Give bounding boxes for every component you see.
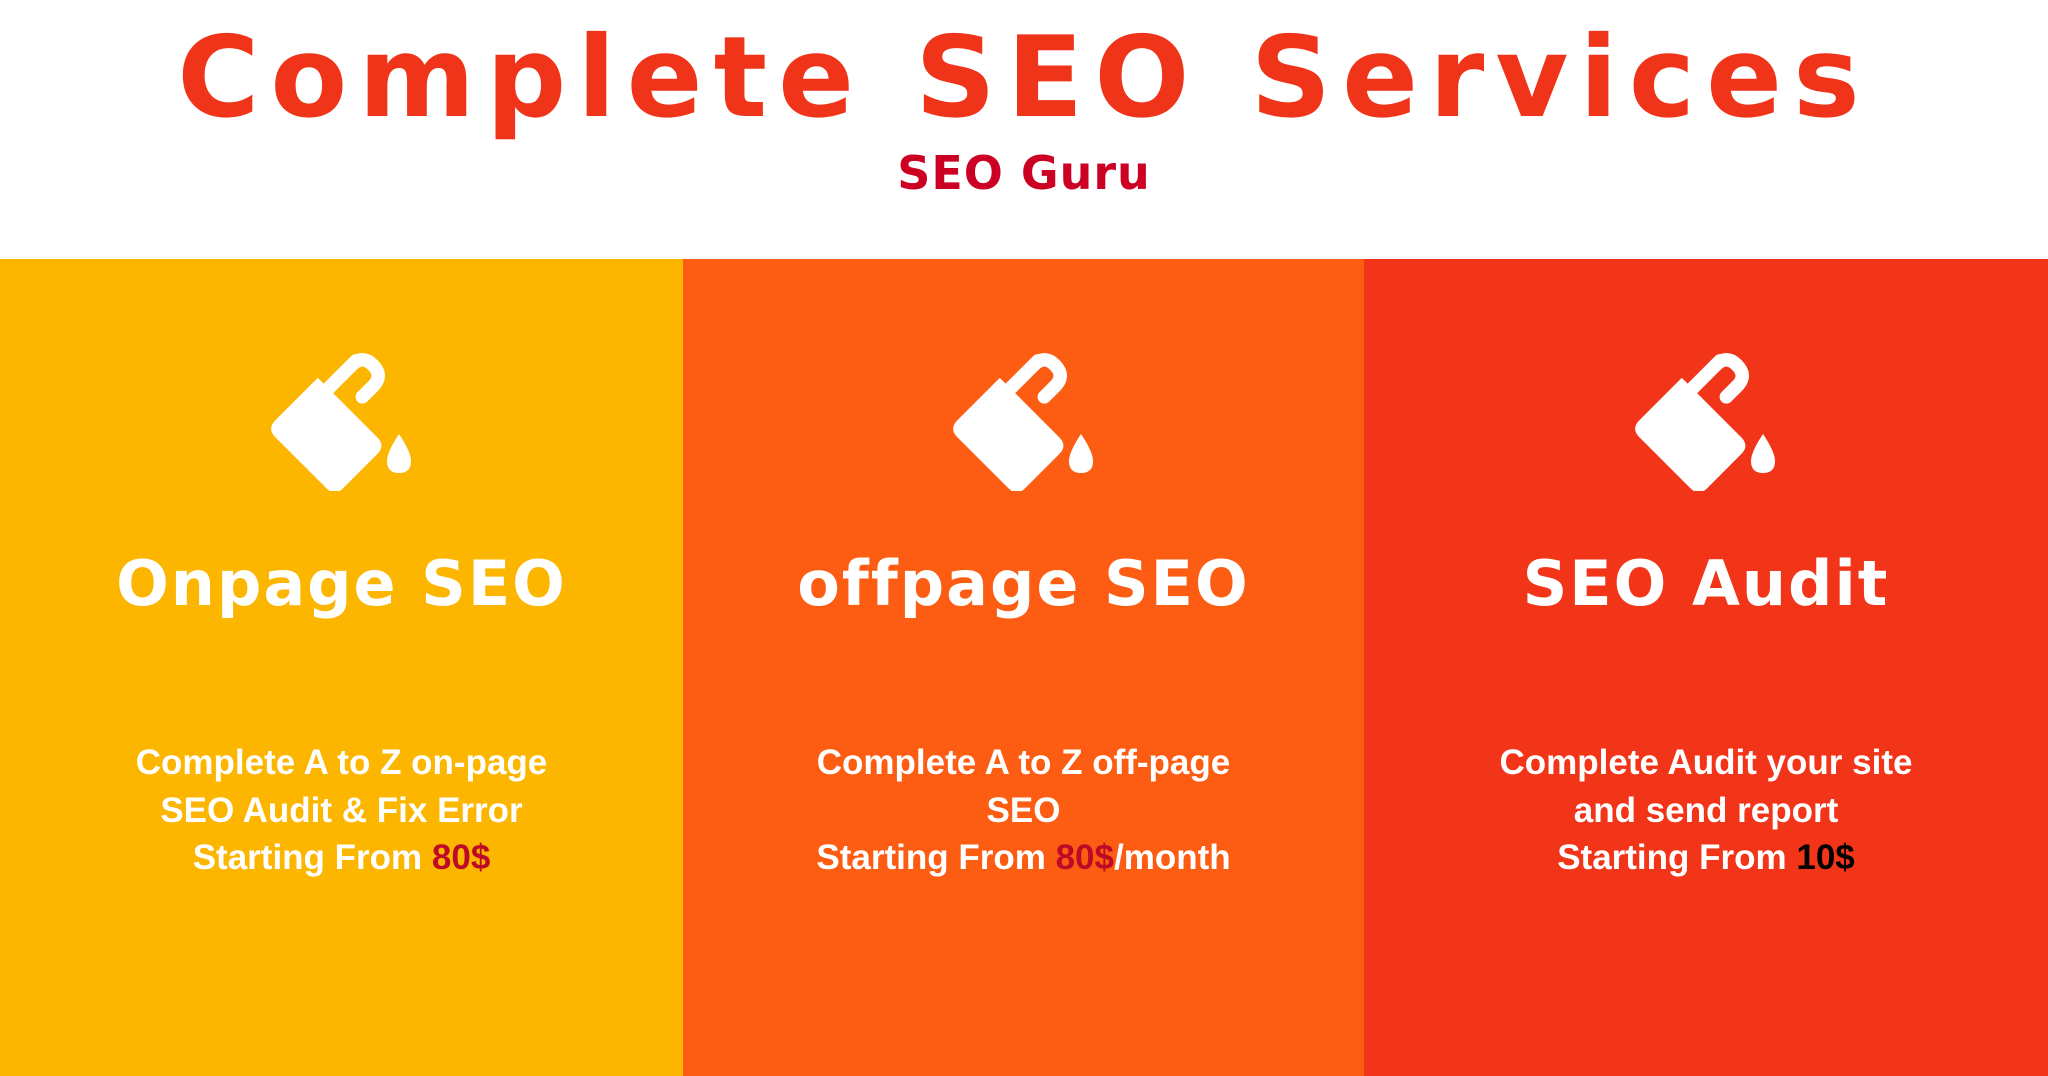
card-body-line: SEO (816, 787, 1230, 835)
card-title: SEO Audit (1523, 553, 1890, 615)
price-amount: 80$ (432, 838, 490, 877)
card-price-line: Starting From 10$ (1500, 834, 1913, 882)
card-body-line: SEO Audit & Fix Error (136, 787, 548, 835)
poster-header: Complete SEO Services SEO Guru (0, 0, 2048, 259)
card-title: Onpage SEO (116, 553, 567, 615)
seo-services-poster: Complete SEO Services SEO Guru Onpage SE… (0, 0, 2048, 1076)
card-body: Complete A to Z off-page SEO Starting Fr… (776, 739, 1270, 882)
page-subtitle: SEO Guru (897, 134, 1151, 196)
card-body-line: Complete A to Z on-page (136, 739, 548, 787)
price-prefix: Starting From (816, 838, 1055, 877)
service-card-offpage-seo[interactable]: offpage SEO Complete A to Z off-page SEO… (683, 259, 1364, 1076)
price-suffix: /month (1114, 838, 1231, 877)
service-card-onpage-seo[interactable]: Onpage SEO Complete A to Z on-page SEO A… (0, 259, 683, 1076)
price-prefix: Starting From (1557, 838, 1796, 877)
price-amount: 10$ (1796, 838, 1854, 877)
service-columns: Onpage SEO Complete A to Z on-page SEO A… (0, 259, 2048, 1076)
card-body: Complete A to Z on-page SEO Audit & Fix … (96, 739, 588, 882)
paint-bucket-icon (949, 341, 1099, 491)
card-body: Complete Audit your site and send report… (1460, 739, 1953, 882)
price-amount: 80$ (1056, 838, 1114, 877)
paint-bucket-icon (267, 341, 417, 491)
paint-bucket-icon (1631, 341, 1781, 491)
card-price-line: Starting From 80$/month (816, 834, 1230, 882)
service-card-seo-audit[interactable]: SEO Audit Complete Audit your site and s… (1364, 259, 2048, 1076)
card-title: offpage SEO (797, 553, 1250, 615)
card-body-line: Complete Audit your site (1500, 739, 1913, 787)
price-prefix: Starting From (193, 838, 432, 877)
card-price-line: Starting From 80$ (136, 834, 548, 882)
page-title: Complete SEO Services (177, 0, 1871, 134)
card-body-line: Complete A to Z off-page (816, 739, 1230, 787)
card-body-line: and send report (1500, 787, 1913, 835)
